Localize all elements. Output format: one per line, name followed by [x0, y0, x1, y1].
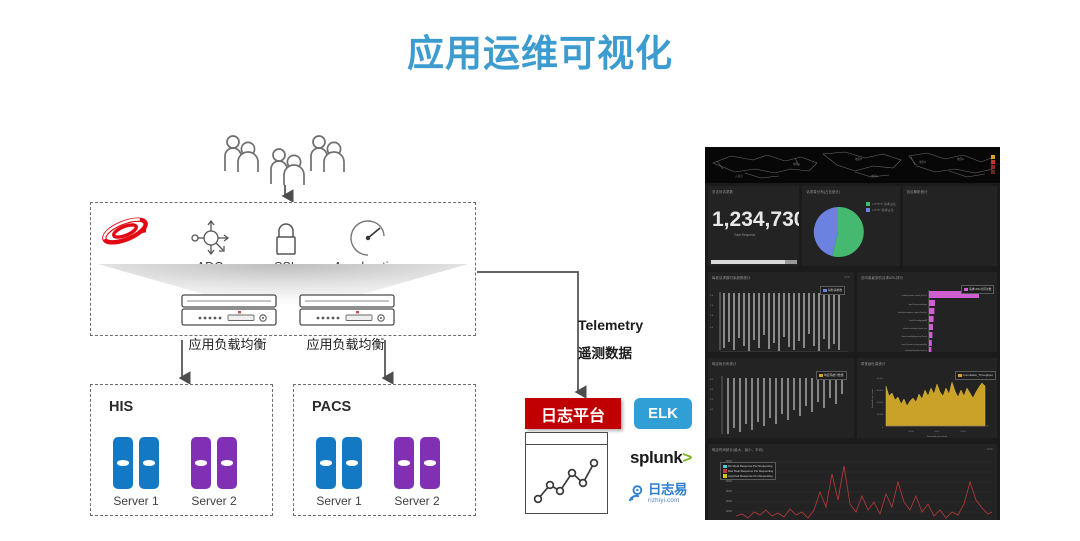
red-swirl-logo — [99, 209, 151, 253]
panel-menu-icon[interactable]: ••• — [844, 274, 850, 279]
panel-menu-icon[interactable]: ••• — [987, 446, 993, 451]
legend-entry: HTTP 请求占比 — [872, 208, 894, 212]
server-pacs-2: Server 2 — [394, 437, 440, 508]
x-tick: 14:00 — [908, 431, 914, 433]
user-group-icon — [222, 134, 268, 172]
legend-entry: Avg Real Response Per Requesting — [728, 474, 773, 478]
chart-legend: Cumulative_Throughput — [955, 371, 996, 380]
chart-legend: 请求URL访问次数 — [961, 285, 994, 294]
panel-response-codes[interactable]: 响应码分布统计 4.03.0 2.01.0 — [708, 358, 854, 438]
svg-text:/api/v1/session/login: /api/v1/session/login — [908, 304, 928, 306]
card-header — [526, 433, 607, 445]
panel-title: 响应码分布统计 — [708, 358, 854, 366]
rizhiyi-name: 日志易 — [648, 483, 687, 497]
appliance-lb-2: 应用负载均衡 — [298, 294, 396, 353]
user-group-icon — [308, 134, 354, 172]
splunk-wordmark: splunk — [630, 448, 682, 467]
rizhiyi-logo[interactable]: 日志易 rizhiyi.com — [628, 483, 687, 504]
svg-text:2.0: 2.0 — [710, 399, 714, 401]
panel-title: 带宽吞吐量统计 — [857, 358, 997, 366]
x-tick: 14:30 — [960, 431, 966, 433]
server-label: Server 2 — [394, 494, 440, 508]
log-platform-button[interactable]: 日志平台 — [525, 398, 621, 429]
metric-sublabel: Total Requests — [708, 233, 799, 237]
panel-title: 请求量分布(占比统计) — [802, 186, 899, 194]
svg-text:40,000: 40,000 — [877, 378, 884, 380]
svg-text:10,000: 10,000 — [877, 414, 884, 416]
metric-value: 1,234,730 — [708, 208, 799, 232]
server-icon — [394, 437, 440, 489]
legend-entry: Max Real Response Per Requesting — [728, 469, 773, 473]
x-tick: 14:15 — [934, 431, 940, 433]
splunk-chevron-icon: > — [682, 448, 692, 467]
appliance-label: 应用负载均衡 — [295, 334, 396, 353]
server-label: Server 1 — [113, 494, 159, 508]
svg-text:地区D: 地区D — [919, 160, 926, 164]
panel-title: 协议解析统计 — [903, 186, 997, 194]
group-title: PACS — [312, 399, 351, 415]
horizontal-scrollbar[interactable] — [711, 260, 797, 264]
svg-text:Bandwidth per minute: Bandwidth per minute — [871, 388, 874, 408]
svg-text:30000: 30000 — [726, 491, 733, 493]
funnel-shadow — [90, 262, 476, 308]
svg-text:地区B: 地区B — [855, 157, 862, 161]
server-icon — [316, 437, 362, 489]
panel-title: 响应时间统计(最大、最小、平均) — [708, 444, 997, 452]
svg-text:30,000: 30,000 — [877, 390, 884, 392]
svg-text:/static/js/main.chunk.js?v=1: /static/js/main.chunk.js?v=1 — [902, 294, 928, 297]
svg-text:地区C: 地区C — [871, 174, 878, 178]
svg-text:地区A: 地区A — [793, 162, 800, 166]
legend-entry: Min Real Response Per Requesting — [728, 464, 772, 468]
svg-text:10000: 10000 — [726, 511, 733, 513]
legend-entry: 每秒请求数 — [828, 288, 842, 292]
elk-badge[interactable]: ELK — [634, 398, 692, 429]
svg-text:2.0: 2.0 — [710, 305, 714, 307]
load-balancer-appliance-icon — [180, 294, 278, 328]
server-his-2: Server 2 — [191, 437, 237, 508]
server-icon — [191, 437, 237, 489]
legend-entry: HTTPS 请求占比 — [872, 202, 896, 206]
chart-legend: 响应码统计数量 — [816, 371, 847, 380]
world-map-panel[interactable]: 入境点 地区A 地区B 地区C 地区D 地区E — [705, 147, 1000, 183]
server-his-1: Server 1 — [113, 437, 159, 508]
legend-entry: Cumulative_Throughput — [963, 373, 993, 377]
telemetry-label-cn: 遥测数据 — [578, 342, 632, 362]
dashboard-row-2: 每秒请求数时序趋势统计 ••• 3.02.0 1.00.5 — [705, 269, 1000, 355]
world-map-icon: 入境点 地区A 地区B 地区C 地区D 地区E — [705, 147, 1000, 183]
panel-top-urls[interactable]: 访问量最多的请求URL排行 /static/js/main.c — [857, 272, 997, 352]
load-balancer-appliance-icon — [298, 294, 396, 328]
users-group-right — [308, 134, 354, 177]
svg-text:20,000: 20,000 — [877, 402, 884, 404]
server-label: Server 2 — [191, 494, 237, 508]
svg-text:/static/js/vendors~main.chunk.: /static/js/vendors~main.chunk.js — [898, 311, 927, 314]
svg-text:1.0: 1.0 — [710, 409, 714, 411]
svg-text:/api/v1/metrics/summary/list: /api/v1/metrics/summary/list — [901, 343, 927, 346]
telemetry-label-en: Telemetry — [578, 317, 643, 333]
rizhiyi-domain: rizhiyi.com — [648, 498, 687, 504]
svg-text:20000: 20000 — [726, 501, 733, 503]
panel-title: 每秒请求数时序趋势统计 — [708, 272, 854, 280]
gauge-icon — [313, 217, 423, 257]
svg-text:4.0: 4.0 — [710, 379, 714, 381]
svg-text:/api/v1/config/getAll: /api/v1/config/getAll — [909, 319, 928, 322]
chart-legend: 每秒请求数 — [820, 286, 845, 295]
rizhiyi-mark-icon — [628, 485, 645, 502]
panel-bandwidth[interactable]: 带宽吞吐量统计 40,00030,000 20,00010,000 0 Band… — [857, 358, 997, 438]
slide-root: 应用运维可视化 — [0, 0, 1080, 541]
panel-request-split[interactable]: 请求量分布(占比统计) HTTPS 请求占比 HTTP 请求占比 — [802, 186, 899, 266]
svg-text:/static/js/runtime-main.js: /static/js/runtime-main.js — [905, 349, 927, 352]
chart-legend: Min Real Response Per Requesting Max Rea… — [720, 462, 776, 480]
line-chart-card — [525, 432, 608, 514]
legend-entry: 请求URL访问次数 — [969, 287, 991, 291]
dashboard-row-1: 总访问请求数 1,234,730 Total Requests 请求量分布(占比… — [705, 183, 1000, 269]
appliance-lb-1: 应用负载均衡 — [180, 294, 278, 353]
svg-text:地区E: 地区E — [957, 157, 964, 161]
panel-protocol-parse[interactable]: 协议解析统计 — [903, 186, 997, 266]
panel-response-time[interactable]: 响应时间统计(最大、最小、平均) ••• 6000050000 40000300… — [708, 444, 997, 520]
server-label: Server 1 — [316, 494, 362, 508]
pie-legend: HTTPS 请求占比 HTTP 请求占比 — [866, 202, 896, 213]
svg-text:1.0: 1.0 — [710, 315, 714, 317]
svg-text:Bandwidth per minute: Bandwidth per minute — [927, 435, 948, 438]
group-pacs: PACS Server 1 Server 2 — [293, 384, 476, 516]
users-group-left — [222, 134, 268, 177]
panel-title: 访问量最多的请求URL排行 — [857, 272, 997, 280]
svg-text:0: 0 — [882, 427, 884, 429]
dashboard-row-3: 响应码分布统计 4.03.0 2.01.0 — [705, 355, 1000, 441]
panel-requests-timeline[interactable]: 每秒请求数时序趋势统计 ••• 3.02.0 1.00.5 — [708, 272, 854, 352]
svg-text:3.0: 3.0 — [710, 389, 714, 391]
server-pacs-1: Server 1 — [316, 437, 362, 508]
splunk-logo[interactable]: splunk> — [630, 448, 692, 468]
svg-text:40000: 40000 — [726, 481, 733, 483]
panel-total-requests[interactable]: 总访问请求数 1,234,730 Total Requests — [708, 186, 799, 266]
svg-text:入境点: 入境点 — [735, 174, 743, 178]
svg-text:0.5: 0.5 — [710, 327, 714, 329]
svg-text:3.0: 3.0 — [710, 295, 714, 297]
group-his: HIS Server 1 Server 2 — [90, 384, 273, 516]
page-title: 应用运维可视化 — [0, 23, 1080, 77]
appliance-label: 应用负载均衡 — [177, 334, 278, 353]
dashboard-row-4: 响应时间统计(最大、最小、平均) ••• 6000050000 40000300… — [705, 441, 1000, 520]
svg-text:/static/media/logo.svg?hash: /static/media/logo.svg?hash — [901, 335, 927, 338]
svg-text:/static/css/main.chunk.css: /static/css/main.chunk.css — [903, 327, 927, 330]
monitoring-dashboard-screenshot[interactable]: 入境点 地区A 地区B 地区C 地区D 地区E 总访问请求数 1, — [705, 147, 1000, 520]
panel-title: 总访问请求数 — [708, 186, 799, 194]
group-title: HIS — [109, 399, 133, 415]
legend-entry: 响应码统计数量 — [824, 373, 844, 377]
line-chart-icon — [526, 445, 606, 511]
server-icon — [113, 437, 159, 489]
